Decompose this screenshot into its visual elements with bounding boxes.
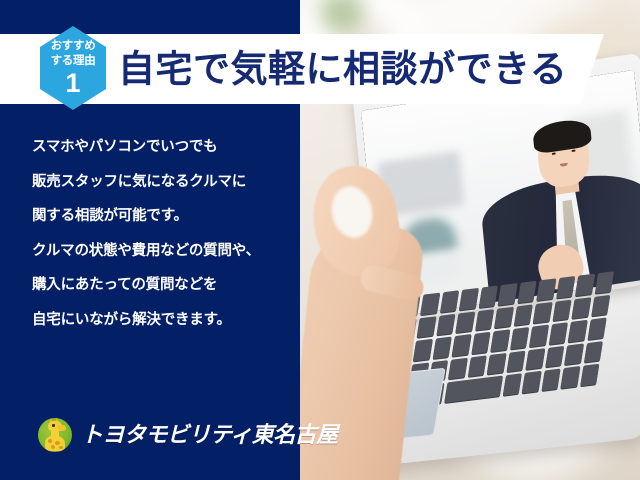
body-line: 関する相談が可能です。	[32, 209, 284, 224]
giraffe-eye	[52, 424, 55, 427]
dealer-logo: トヨタモビリティ東名古屋	[38, 418, 338, 452]
badge-line-1: おすすめ	[51, 39, 96, 53]
giraffe-spot	[59, 446, 63, 449]
staff-person-figure	[473, 98, 640, 302]
body-line: クルマの状態や費用などの質問や、	[32, 244, 284, 259]
body-line: 販売スタッフに気になるクルマに	[32, 175, 284, 190]
giraffe-mascot-icon	[38, 418, 72, 452]
giraffe-spot	[55, 441, 60, 445]
badge-number: 1	[65, 70, 80, 97]
body-line: 購入にあたっての質問などを	[32, 278, 284, 293]
dealer-name: トヨタモビリティ東名古屋	[81, 424, 338, 446]
badge-line-2: する理由	[51, 54, 96, 68]
body-copy: スマホやパソコンでいつでも 販売スタッフに気になるクルマに 関する相談が可能です…	[32, 140, 284, 327]
banner-root: 自宅で気軽に相談ができる おすすめ する理由 1 スマホやパソコンでいつでも 販…	[0, 0, 640, 480]
body-line: スマホやパソコンでいつでも	[32, 140, 284, 155]
giraffe-spot	[48, 439, 52, 443]
giraffe-snout	[58, 425, 66, 431]
laptop-illustration	[308, 74, 640, 474]
body-line: 自宅にいながら解決できます。	[32, 313, 284, 328]
giraffe-spot	[51, 445, 55, 449]
page-title: 自宅で気軽に相談ができる	[118, 51, 567, 88]
power-cable	[571, 387, 640, 480]
